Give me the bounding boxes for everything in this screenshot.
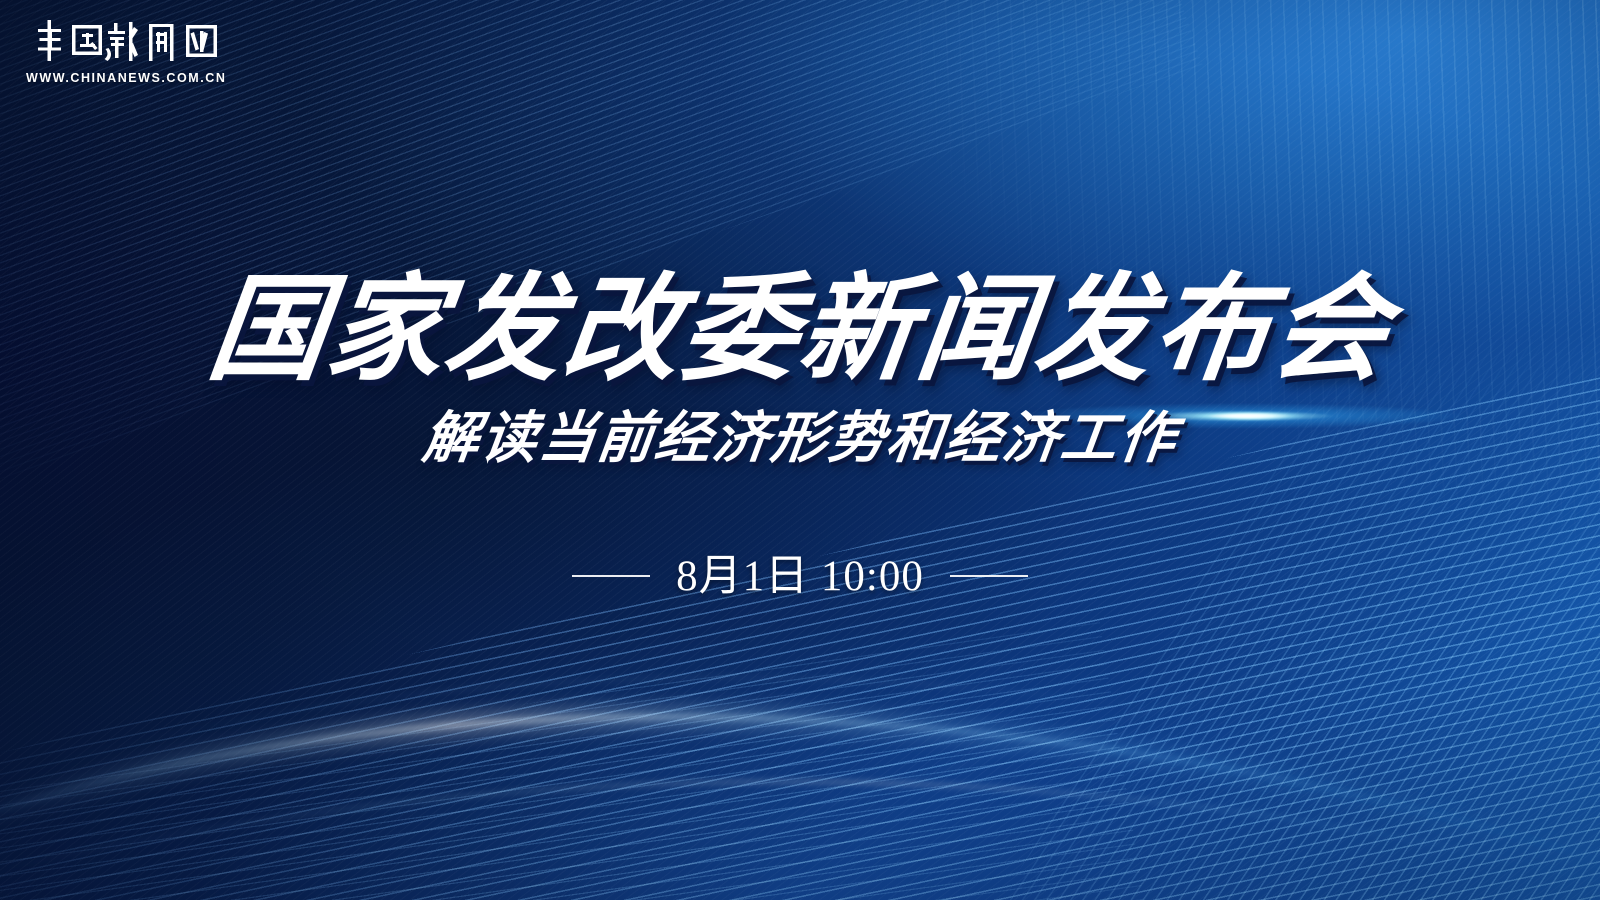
poster-headline: 国家发改委新闻发布会: [203, 272, 1397, 388]
chinanews-logo-icon: [26, 14, 226, 66]
site-logo[interactable]: WWW.CHINANEWS.COM.CN: [26, 14, 238, 85]
left-rule-divider: [572, 575, 650, 577]
right-rule-divider: [950, 575, 1028, 577]
poster-datetime: 8月1日 10:00: [676, 555, 924, 598]
poster-canvas: WWW.CHINANEWS.COM.CN 国家发改委新闻发布会 解读当前经济形势…: [0, 0, 1600, 900]
site-url-text: WWW.CHINANEWS.COM.CN: [26, 71, 238, 85]
poster-content: 国家发改委新闻发布会 解读当前经济形势和经济工作 8月1日 10:00: [0, 0, 1600, 900]
poster-datetime-row: 8月1日 10:00: [572, 555, 1028, 598]
poster-subheadline: 解读当前经济形势和经济工作: [419, 410, 1180, 469]
